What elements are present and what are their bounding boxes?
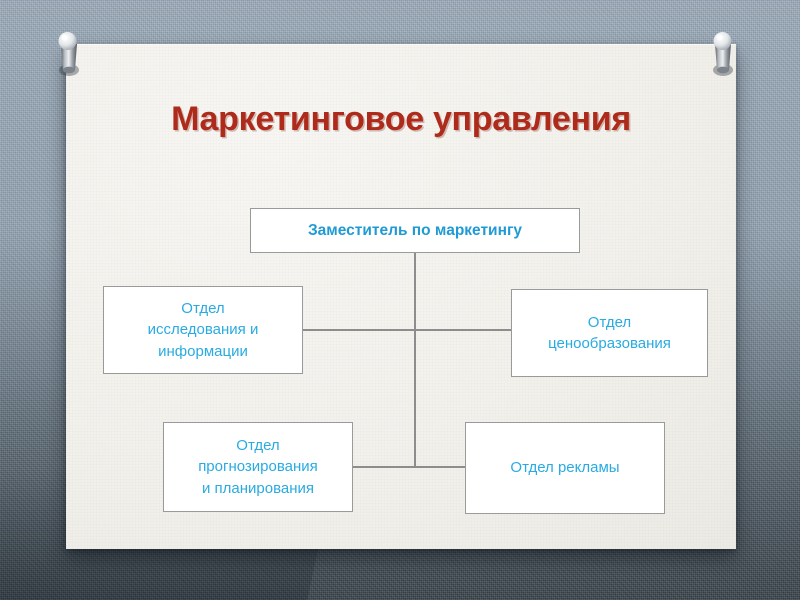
node-label: Отдел прогнозирования и планирования xyxy=(198,435,318,499)
paper-sheet: Маркетинговое управления Заместитель по … xyxy=(66,44,736,549)
node-advertising-department[interactable]: Отдел рекламы xyxy=(465,422,665,514)
node-label: Отдел исследования и информации xyxy=(148,298,259,362)
connector-middle-horizontal xyxy=(271,329,511,331)
node-label: Отдел рекламы xyxy=(510,457,619,478)
node-research-department[interactable]: Отдел исследования и информации xyxy=(103,286,303,374)
slide-canvas: Маркетинговое управления Заместитель по … xyxy=(0,0,800,600)
connector-trunk-vertical xyxy=(414,253,416,467)
node-pricing-department[interactable]: Отдел ценообразования xyxy=(511,289,708,377)
node-label: Отдел ценообразования xyxy=(548,312,671,355)
node-forecasting-planning-department[interactable]: Отдел прогнозирования и планирования xyxy=(163,422,353,512)
node-deputy-marketing[interactable]: Заместитель по маркетингу xyxy=(250,208,580,253)
node-label: Заместитель по маркетингу xyxy=(308,220,522,242)
org-chart-diagram: Заместитель по маркетингу Отдел исследов… xyxy=(66,44,736,549)
